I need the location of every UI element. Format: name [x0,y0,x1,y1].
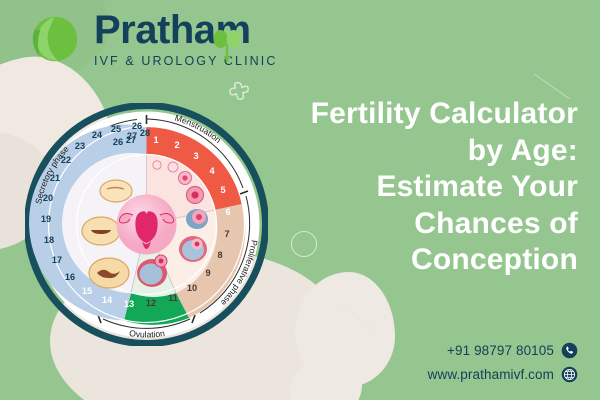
title-line-3: Estimate Your [248,169,578,206]
brand-name: Pratham [94,10,277,50]
phone-number: +91 98797 80105 [447,343,554,358]
page-title: Fertility Calculator by Age: Estimate Yo… [248,96,578,279]
title-line-5: Conception [248,242,578,279]
sprout-icon [212,24,242,64]
phone-icon [561,342,578,359]
brand-tagline: IVF & UROLOGY CLINIC [94,55,277,68]
website-url: www.prathamivf.com [428,367,554,382]
svg-text:1: 1 [153,135,158,145]
globe-icon [561,366,578,383]
svg-text:2: 2 [174,140,179,150]
brand-logo[interactable]: Pratham IVF & UROLOGY CLINIC [22,8,277,70]
menstrual-cycle-wheel: 1 2 3 4 5 6 7 8 9 10 11 12 13 14 15 16 1… [25,103,268,346]
leaf-circle-icon [22,8,84,70]
svg-text:25: 25 [111,124,121,134]
svg-text:8: 8 [217,250,222,260]
svg-text:19: 19 [41,214,51,224]
contact-website-row[interactable]: www.prathamivf.com [428,366,578,383]
title-line-2: by Age: [248,133,578,170]
svg-text:15: 15 [82,286,92,296]
svg-text:11: 11 [168,293,178,303]
svg-text:26: 26 [113,137,123,147]
poster-canvas: Pratham IVF & UROLOGY CLINIC [0,0,600,400]
title-line-1: Fertility Calculator [248,96,578,133]
svg-text:9: 9 [205,268,210,278]
svg-text:24: 24 [92,130,103,140]
svg-text:6: 6 [225,207,230,217]
svg-text:4: 4 [209,166,215,176]
svg-text:5: 5 [220,185,225,195]
svg-text:13: 13 [124,299,134,309]
svg-text:28: 28 [140,128,150,138]
svg-text:23: 23 [75,141,85,151]
label-ovulation: Ovulation [129,328,166,339]
svg-text:7: 7 [224,229,229,239]
svg-text:16: 16 [65,272,75,282]
svg-text:17: 17 [52,255,62,265]
svg-text:10: 10 [187,283,197,293]
contact-block: +91 98797 80105 www.prathamivf.com [428,342,578,390]
svg-text:3: 3 [193,151,198,161]
svg-text:27: 27 [127,131,137,141]
title-line-4: Chances of [248,206,578,243]
svg-text:14: 14 [102,295,113,305]
svg-text:12: 12 [146,298,156,308]
contact-phone-row[interactable]: +91 98797 80105 [428,342,578,359]
svg-text:18: 18 [44,235,54,245]
